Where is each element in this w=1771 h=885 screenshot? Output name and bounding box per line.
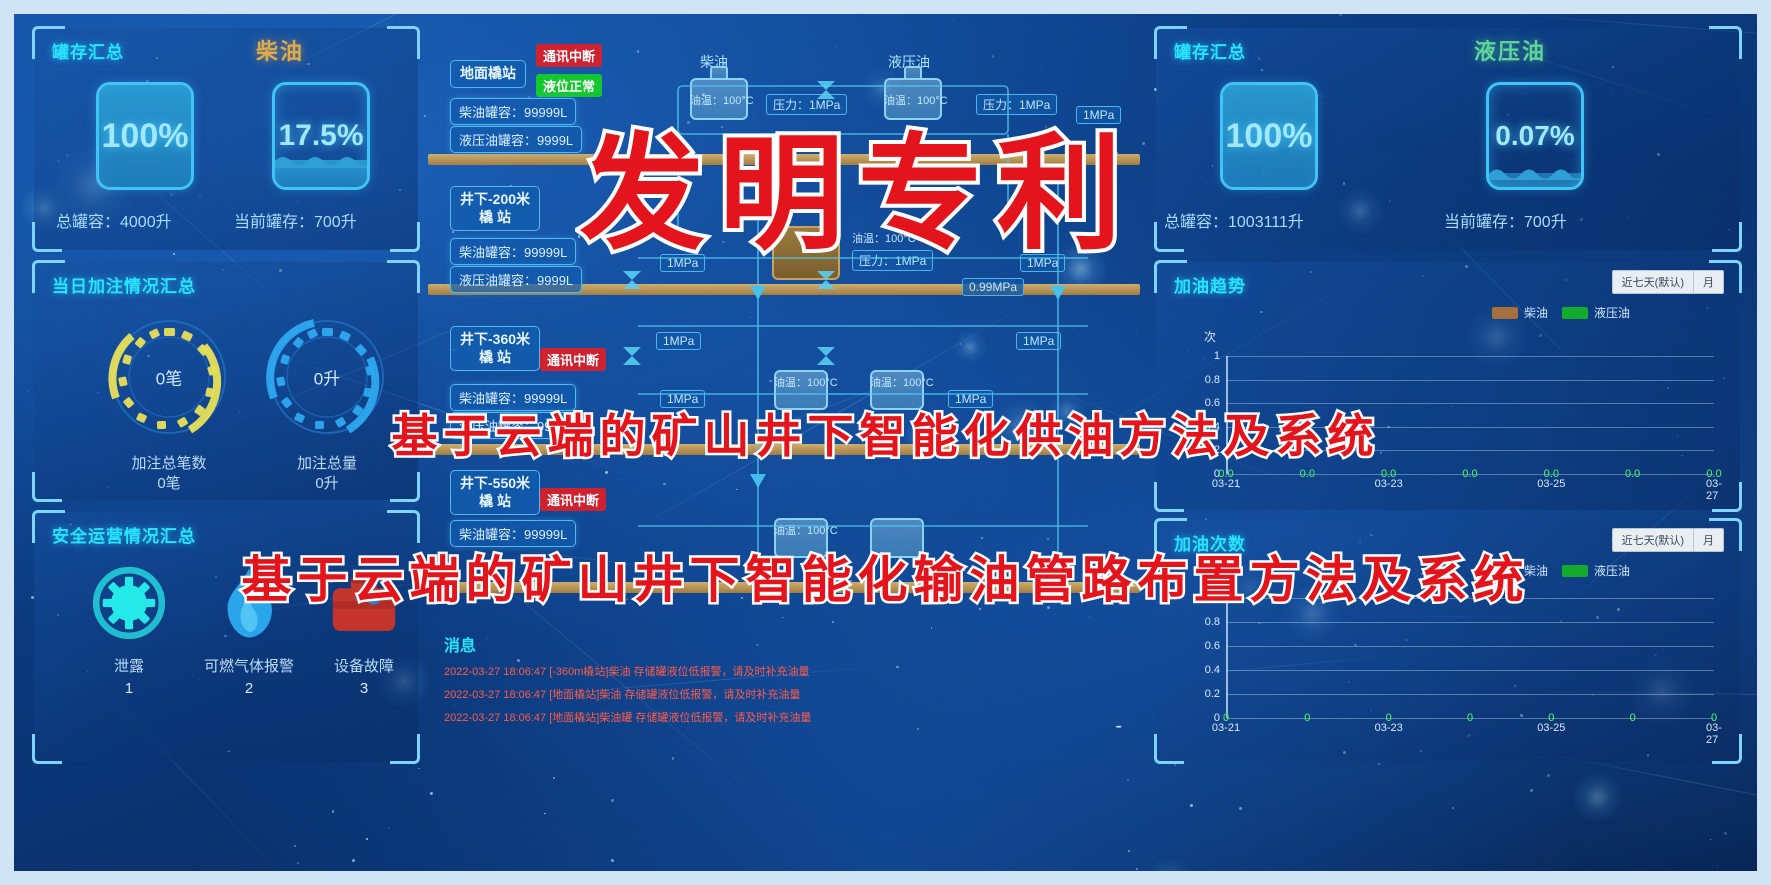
- message-line: 2022-03-27 18:06:47 [地面橇站]柴油罐 存储罐液位低报警，请…: [444, 709, 1130, 725]
- station-name-550m-line2: 橇 站: [479, 493, 511, 509]
- legend-item-diesel[interactable]: 柴油: [1492, 304, 1548, 321]
- safety-label-leak: 泄露: [74, 655, 184, 676]
- chart-ytick: 0.8: [1192, 374, 1220, 386]
- gauge-refuel-count-caption: 加注总笔数 0笔: [94, 454, 244, 495]
- chart-gridline: [1226, 622, 1714, 623]
- tank-wave-icon: [1489, 164, 1584, 180]
- tank-diesel-total: 100%: [96, 82, 194, 190]
- chart-ytick: 0.4: [1192, 664, 1220, 676]
- gauge-refuel-volume-value: 0升: [252, 365, 402, 390]
- tank-diesel-current-fill: [275, 160, 367, 187]
- pressure-tag: 1MPa: [656, 332, 701, 350]
- station-tank-diesel-200m: 柴油罐容：99999L: [450, 238, 576, 265]
- sensor-oil-temp: 油温：100°C: [774, 374, 838, 390]
- safety-value-leak: 1: [74, 680, 184, 697]
- legend-swatch-hydraulic: [1562, 307, 1588, 319]
- chart-point-label: 0: [1386, 712, 1392, 724]
- station-name-200m-line2: 橇 站: [479, 209, 511, 225]
- range-button-month[interactable]: 月: [1694, 529, 1723, 551]
- station-name-200m-line1: 井下-200米: [460, 191, 530, 207]
- panel-title-messages: 消息: [444, 632, 1130, 656]
- chart-ytick: 0.6: [1192, 640, 1220, 652]
- panel-messages: 消息 2022-03-27 18:06:47 [-360m橇站]柴油 存储罐液位…: [428, 622, 1146, 762]
- safety-item-leak[interactable]: 泄露 1: [74, 562, 184, 697]
- legend-label-diesel: 柴油: [1524, 304, 1548, 321]
- chart-yaxis-unit-trend: 次: [1204, 328, 1216, 345]
- chart-ytick: 0.8: [1192, 616, 1220, 628]
- panel-subtitle-hydraulic: 液压油: [1474, 34, 1546, 66]
- legend-item-hydraulic[interactable]: 液压油: [1562, 304, 1630, 321]
- station-name-550m-line1: 井下-550米: [460, 475, 530, 491]
- chart-point-label: 0: [1630, 712, 1636, 724]
- tank-diesel-current: 17.5%: [272, 82, 370, 190]
- chart-point-label: 0.0: [1544, 468, 1559, 480]
- legend-label-hydraulic: 液压油: [1594, 304, 1630, 321]
- range-selector-trend[interactable]: 近七天(默认) 月: [1612, 270, 1724, 294]
- chart-gridline: [1226, 380, 1714, 381]
- station-status-comm-550m: 通讯中断: [540, 488, 606, 511]
- tank-diesel-current-percent: 17.5%: [278, 119, 363, 153]
- safety-value-equipment-fault: 3: [314, 680, 414, 697]
- station-tank-hydraulic-surface: 液压油罐容：9999L: [450, 126, 582, 153]
- chart-point-label: 0.0: [1218, 468, 1233, 480]
- chart-yaxis: [1226, 598, 1228, 718]
- chart-point-label: 0.0: [1625, 468, 1640, 480]
- chart-xtick: 03-27: [1706, 478, 1722, 502]
- chart-gridline: [1226, 670, 1714, 671]
- station-name-surface[interactable]: 地面橇站: [450, 60, 526, 88]
- panel-daily-refuel-summary: 当日加注情况汇总: [34, 262, 418, 500]
- panel-hydraulic-tank-summary: 罐存汇总 液压油 100% 总罐容：1003111升 0.07% 当前罐存：70…: [1156, 28, 1740, 250]
- chart-point-label: 0.0: [1381, 468, 1396, 480]
- tank-hydraulic-total-caption: 总罐容：1003111升: [1164, 208, 1304, 232]
- watermark-headline: 发明专利: [580, 92, 1136, 273]
- chart-legend-trend: 柴油 液压油: [1492, 304, 1630, 321]
- station-status-comm-360m: 通讯中断: [540, 348, 606, 371]
- station-name-360m-line2: 橇 站: [479, 349, 511, 365]
- sensor-oil-temp: 油温：100°C: [870, 374, 934, 390]
- station-tank-diesel-surface: 柴油罐容：99999L: [450, 98, 576, 125]
- safety-label-equipment-fault: 设备故障: [314, 655, 414, 676]
- panel-refuel-trend: 加油趋势 近七天(默认) 月 柴油 液压油 次 00.20.40.60.8103…: [1156, 262, 1740, 510]
- chart-gridline: [1226, 356, 1714, 357]
- panel-subtitle-diesel: 柴油: [256, 34, 304, 66]
- tank-hydraulic-current-fill: [1489, 173, 1581, 187]
- safety-label-gas-alarm: 可燃气体报警: [184, 655, 314, 676]
- watermark-patent-title-1: 基于云端的矿山井下智能化供油方法及系统: [392, 400, 1380, 466]
- panel-title-refuel-trend: 加油趋势: [1174, 272, 1246, 297]
- panel-title-diesel-summary: 罐存汇总: [52, 38, 124, 63]
- message-line: 2022-03-27 18:06:47 [地面橇站]柴油 存储罐液位低报警，请及…: [444, 686, 1130, 702]
- tank-diesel-total-percent: 100%: [102, 117, 189, 156]
- chart-point-label: 0: [1467, 712, 1473, 724]
- gauge-refuel-count: 0笔: [94, 302, 244, 452]
- station-name-360m-line1: 井下-360米: [460, 331, 530, 347]
- tank-graphic: [904, 66, 922, 80]
- legend-swatch-hydraulic: [1562, 565, 1588, 577]
- range-button-month[interactable]: 月: [1694, 271, 1723, 293]
- message-line: 2022-03-27 18:06:47 [-360m橇站]柴油 存储罐液位低报警…: [444, 663, 1130, 679]
- gear-icon: [88, 562, 170, 644]
- tank-hydraulic-total: 100%: [1220, 82, 1318, 190]
- chart-point-label: 0: [1223, 712, 1229, 724]
- gauge-refuel-count-caption-line1: 加注总笔数: [131, 455, 206, 472]
- chart-point-label: 0.0: [1300, 468, 1315, 480]
- chart-point-label: 0: [1304, 712, 1310, 724]
- pressure-tag-special: 0.99MPa: [962, 278, 1024, 296]
- dashboard-root: 罐存汇总 柴油 100% 总罐容：4000升 17.5% 当前罐存：700升 当…: [0, 0, 1771, 885]
- chart-ytick: 0.2: [1192, 688, 1220, 700]
- safety-value-gas-alarm: 2: [184, 680, 314, 697]
- tank-graphic: [710, 66, 728, 80]
- pressure-tag: 1MPa: [1016, 332, 1061, 350]
- gauge-refuel-volume-caption-line2: 0升: [315, 475, 338, 492]
- panel-title-hydraulic-summary: 罐存汇总: [1174, 38, 1246, 63]
- range-button-seven-days[interactable]: 近七天(默认): [1613, 529, 1694, 551]
- watermark-patent-title-2: 基于云端的矿山井下智能化输油管路布置方法及系统: [242, 540, 1530, 612]
- gauge-refuel-volume-caption-line1: 加注总量: [297, 455, 357, 472]
- chart-plot-count: 00.20.40.60.8103-2103-2303-2503-27000000…: [1192, 590, 1722, 742]
- panel-title-safety: 安全运营情况汇总: [52, 522, 196, 547]
- gauge-refuel-volume-caption: 加注总量 0升: [252, 454, 402, 495]
- station-name-360m[interactable]: 井下-360米 橇 站: [450, 326, 540, 371]
- chart-xtick: 03-27: [1706, 722, 1722, 746]
- gauge-refuel-volume: 0升: [252, 302, 402, 452]
- chart-gridline: [1226, 694, 1714, 695]
- legend-swatch-diesel: [1492, 307, 1518, 319]
- range-button-seven-days[interactable]: 近七天(默认): [1613, 271, 1694, 293]
- chart-point-label: 0: [1711, 712, 1717, 724]
- gauge-refuel-count-value: 0笔: [94, 365, 244, 390]
- tank-diesel-total-caption: 总罐容：4000升: [56, 208, 172, 232]
- station-status-comm-surface: 通讯中断: [536, 44, 602, 67]
- sensor-oil-temp: 油温：100°C: [774, 522, 838, 538]
- legend-item-hydraulic[interactable]: 液压油: [1562, 562, 1630, 579]
- legend-label-hydraulic: 液压油: [1594, 562, 1630, 579]
- range-selector-count[interactable]: 近七天(默认) 月: [1612, 528, 1724, 552]
- chart-point-label: 0.0: [1462, 468, 1477, 480]
- panel-diesel-tank-summary: 罐存汇总 柴油 100% 总罐容：4000升 17.5% 当前罐存：700升: [34, 28, 418, 250]
- tank-wave-icon: [275, 152, 370, 168]
- station-name-550m[interactable]: 井下-550米 橇 站: [450, 470, 540, 515]
- tank-hydraulic-current-percent: 0.07%: [1495, 120, 1574, 152]
- gauge-refuel-count-caption-line2: 0笔: [157, 475, 180, 492]
- tank-hydraulic-total-percent: 100%: [1226, 117, 1313, 156]
- station-tank-hydraulic-200m: 液压油罐容：9999L: [450, 266, 582, 293]
- tank-diesel-current-caption: 当前罐存：700升: [234, 208, 357, 232]
- station-name-200m[interactable]: 井下-200米 橇 站: [450, 186, 540, 231]
- tank-hydraulic-current-caption: 当前罐存：700升: [1444, 208, 1567, 232]
- chart-gridline: [1226, 646, 1714, 647]
- chart-ytick: 1: [1192, 350, 1220, 362]
- panel-title-daily-refuel: 当日加注情况汇总: [52, 272, 196, 297]
- chart-point-label: 0: [1548, 712, 1554, 724]
- tank-hydraulic-current: 0.07%: [1486, 82, 1584, 190]
- chart-point-label: 0.0: [1706, 468, 1721, 480]
